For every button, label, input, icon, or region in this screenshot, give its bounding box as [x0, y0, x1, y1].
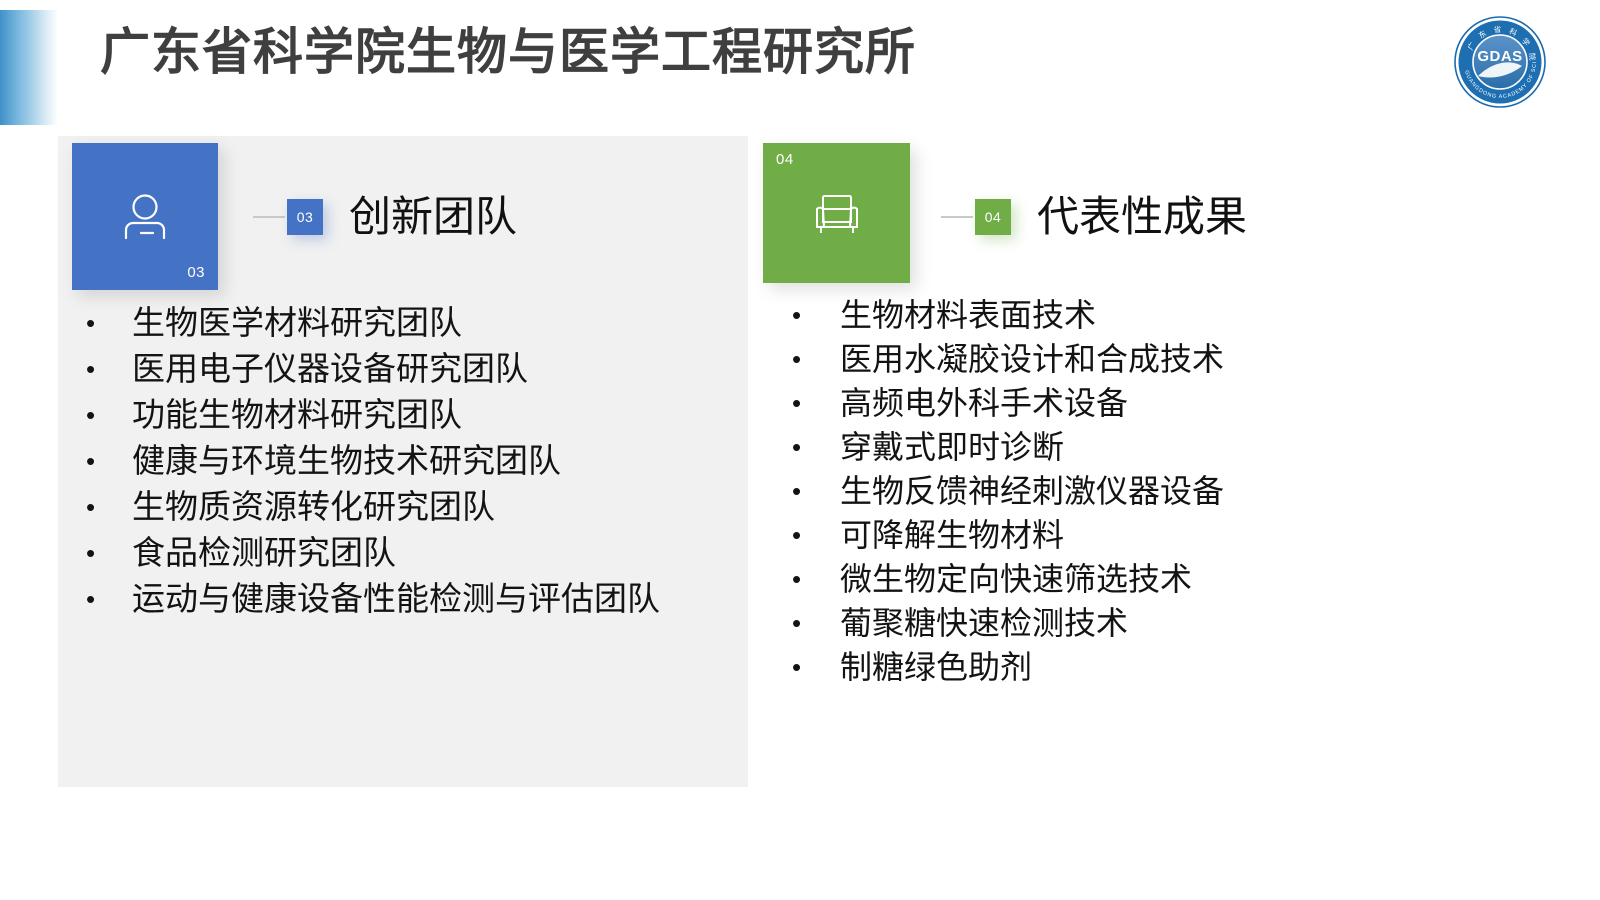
svg-text:GDAS: GDAS: [1477, 48, 1522, 65]
list-item: 食品检测研究团队: [86, 530, 686, 576]
list-item: 穿戴式即时诊断: [792, 425, 1312, 469]
card-number-team: 03: [187, 264, 205, 281]
section-badge-team: 03: [287, 199, 323, 235]
list-item: 运动与健康设备性能检测与评估团队: [86, 576, 686, 622]
armchair-icon: [763, 182, 910, 244]
list-item: 生物材料表面技术: [792, 293, 1312, 337]
list-item: 生物反馈神经刺激仪器设备: [792, 469, 1312, 513]
page-title: 广东省科学院生物与医学工程研究所: [100, 17, 916, 87]
section-heading-results: 04 代表性成果: [941, 193, 1247, 241]
section-badge-results: 04: [975, 199, 1011, 235]
list-item: 制糖绿色助剂: [792, 645, 1312, 689]
results-list: 生物材料表面技术 医用水凝胶设计和合成技术 高频电外科手术设备 穿戴式即时诊断 …: [792, 293, 1312, 689]
section-title-team: 创新团队: [349, 193, 517, 241]
list-item: 可降解生物材料: [792, 513, 1312, 557]
person-icon: [72, 186, 218, 248]
card-number-results: 04: [776, 151, 794, 168]
connector-line-team: [253, 216, 285, 218]
section-title-results: 代表性成果: [1037, 193, 1247, 241]
list-item: 生物医学材料研究团队: [86, 300, 686, 346]
list-item: 葡聚糖快速检测技术: [792, 601, 1312, 645]
list-item: 微生物定向快速筛选技术: [792, 557, 1312, 601]
list-item: 功能生物材料研究团队: [86, 392, 686, 438]
header-accent-bar: [0, 10, 58, 125]
section-card-team: 03: [72, 143, 218, 290]
section-card-results: 04: [763, 143, 910, 283]
list-item: 高频电外科手术设备: [792, 381, 1312, 425]
list-item: 医用水凝胶设计和合成技术: [792, 337, 1312, 381]
section-heading-team: 03 创新团队: [253, 193, 517, 241]
connector-line-results: [941, 216, 973, 218]
list-item: 生物质资源转化研究团队: [86, 484, 686, 530]
gdas-logo: GDAS 广 东 省 科 学 院 GUANGDONG ACADEMY OF SC…: [1452, 14, 1548, 110]
list-item: 健康与环境生物技术研究团队: [86, 438, 686, 484]
team-list: 生物医学材料研究团队 医用电子仪器设备研究团队 功能生物材料研究团队 健康与环境…: [86, 300, 686, 622]
list-item: 医用电子仪器设备研究团队: [86, 346, 686, 392]
